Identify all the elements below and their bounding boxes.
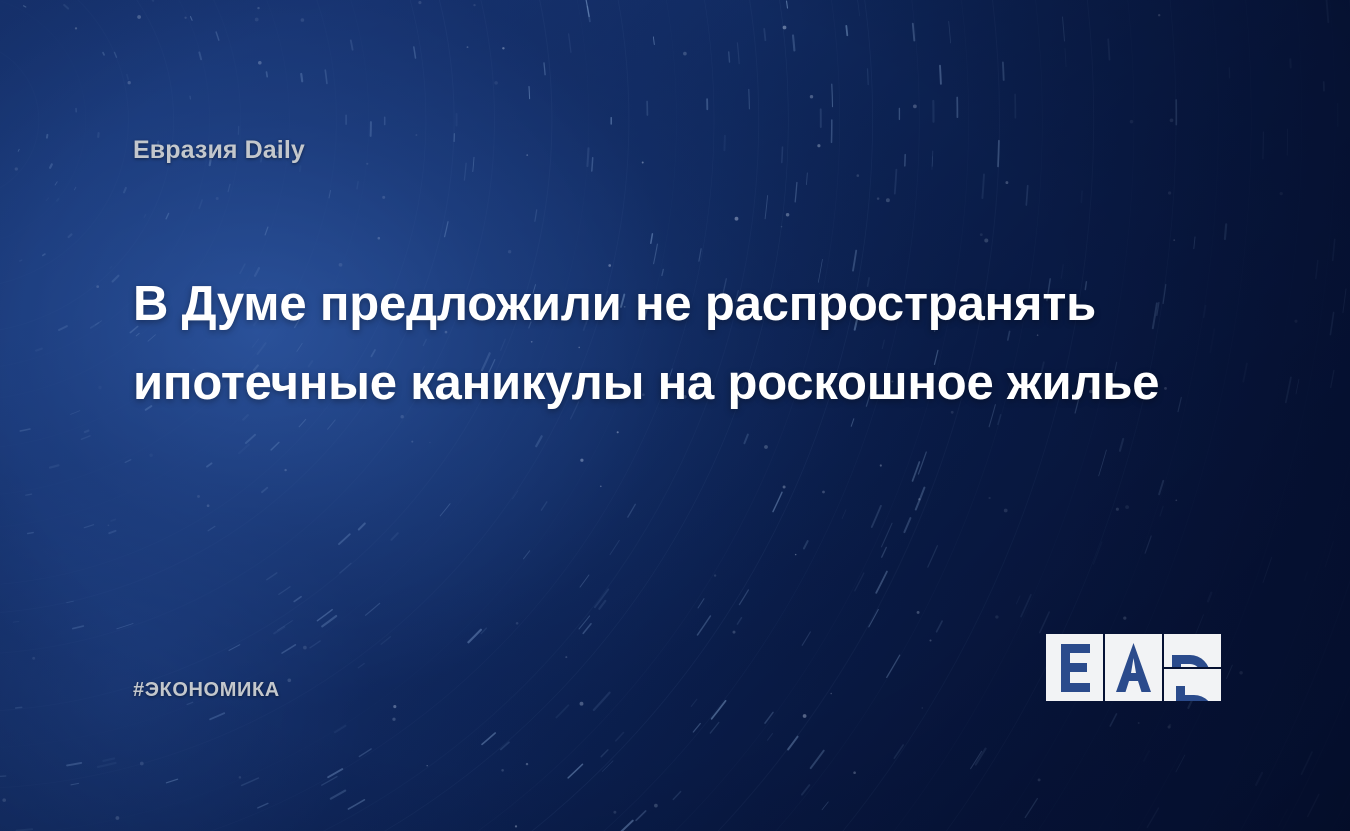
logo-tile-d <box>1164 634 1221 701</box>
eadaily-logo <box>1046 634 1221 701</box>
logo-tile-d-top <box>1164 634 1221 667</box>
brand-name: Евразия Daily <box>133 136 305 165</box>
logo-tile-e <box>1046 634 1103 701</box>
logo-tile-d-bottom <box>1164 669 1221 702</box>
page-title: В Думе предложили не распространять ипот… <box>133 265 1213 423</box>
news-card: Евразия Daily В Думе предложили не распр… <box>0 0 1350 831</box>
category-tag: #ЭКОНОМИКА <box>133 679 280 702</box>
logo-tile-a <box>1105 634 1162 701</box>
